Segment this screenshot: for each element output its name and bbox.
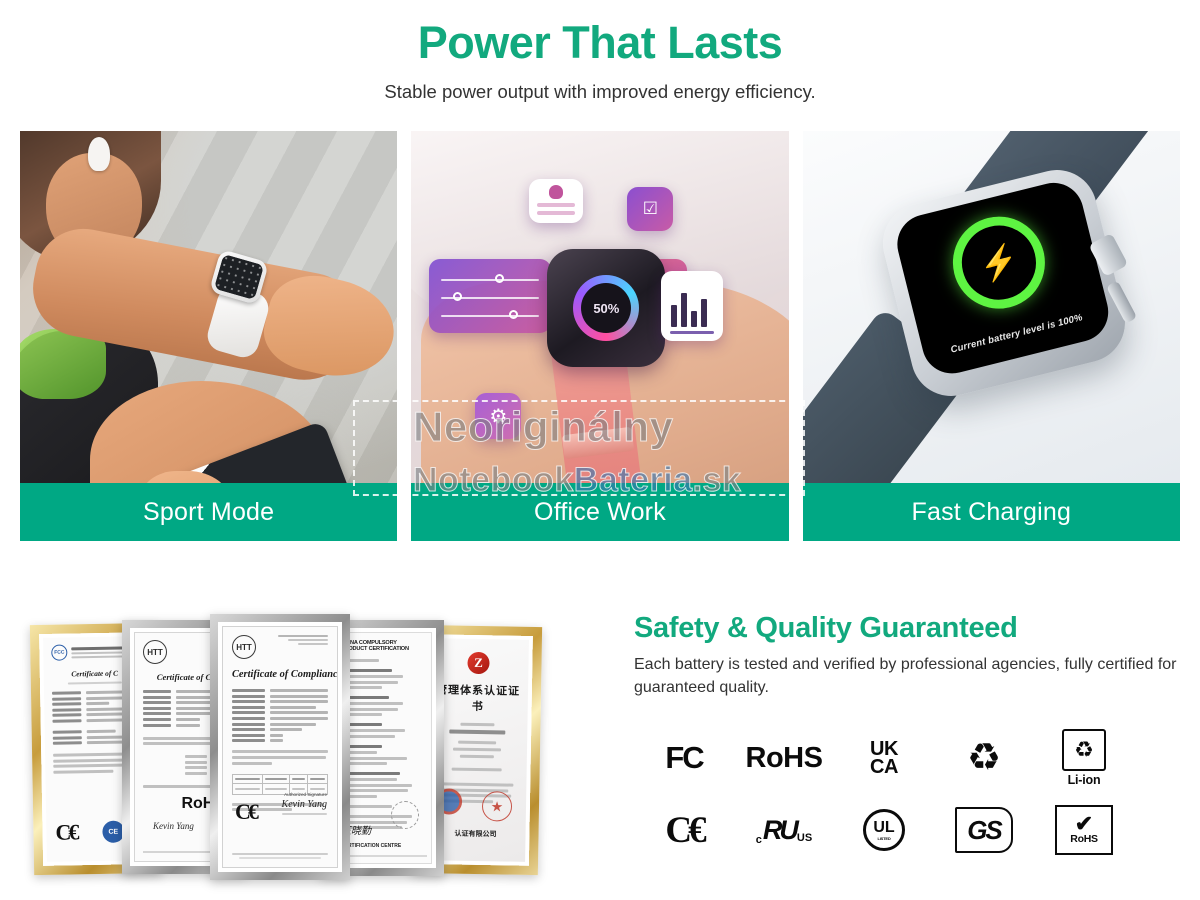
badge-row-1: FC RoHS UK CA ♻ ♻ Li-ion: [634, 722, 1134, 794]
cert-main-title: Certificate of Compliance: [232, 669, 328, 680]
page-header: Power That Lasts Stable power output wit…: [0, 0, 1200, 103]
cul-mark: RU: [763, 815, 796, 846]
cert-d-footer: CERTIFICATION CENTRE: [341, 843, 401, 849]
certificate-of-compliance-main[interactable]: HTT Certificate of Compliance: [210, 614, 350, 880]
settings-sliders-tile: [429, 259, 551, 333]
safety-quality-section: FCC Certificate of C: [0, 594, 1200, 900]
z-mark-icon: Z: [467, 652, 489, 674]
ukca-badge: UK CA: [834, 722, 934, 794]
watch-percent-label: 50%: [581, 283, 631, 333]
contact-card-tile: [529, 179, 583, 223]
smartwatch-body-office: 50%: [547, 249, 665, 367]
watch-screen-charging: ⚡ Current battery level is 100%: [891, 177, 1115, 380]
check-icon: ✔: [1075, 815, 1093, 833]
office-work-photo: ☑ ✉ 50% ⚙: [411, 131, 788, 541]
earbud-icon: [88, 137, 110, 171]
red-seal-stamp: ★: [482, 791, 513, 822]
li-ion-label: Li-ion: [1068, 773, 1101, 787]
settings-gear-tile: ⚙: [475, 393, 521, 439]
sport-mode-photo: [20, 131, 397, 541]
recycle-icon-small: ♻: [1062, 729, 1106, 771]
htt-logo-b: HTT: [143, 640, 167, 664]
ul-label: UL: [873, 820, 894, 836]
rohs-tick-badge: ✔ RoHS: [1034, 794, 1134, 866]
feature-card-office-work[interactable]: ☑ ✉ 50% ⚙ Office Work: [411, 131, 788, 541]
rohs-text-badge: RoHS: [734, 722, 834, 794]
certificate-gallery: FCC Certificate of C: [18, 602, 608, 892]
cert-e-title: 管理体系认证证书: [436, 681, 521, 714]
ukca-bottom: CA: [870, 756, 898, 778]
badge-row-2: C€ c RU US UL LISTED GS: [634, 794, 1134, 866]
cert-main-signature-label: Authorized Signature: [282, 792, 327, 797]
cert-d-title: CHINA COMPULSORY PRODUCT CERTIFICATION: [341, 640, 423, 652]
htt-logo-main: HTT: [232, 635, 256, 659]
c-ul-us-badge: c RU US: [734, 794, 834, 866]
caption-sport-mode: Sport Mode: [20, 483, 397, 541]
lightning-bolt-icon: ⚡: [975, 242, 1021, 283]
recycle-badge: ♻: [934, 722, 1034, 794]
safety-description: Each battery is tested and verified by p…: [634, 654, 1182, 699]
cul-suffix: US: [797, 832, 812, 844]
page-subtitle: Stable power output with improved energy…: [0, 81, 1200, 103]
product-detail-page: Power That Lasts Stable power output wit…: [0, 0, 1200, 900]
person-icon: [549, 185, 563, 199]
feature-card-sport-mode[interactable]: Sport Mode: [20, 131, 397, 541]
checklist-tile: ☑: [627, 187, 673, 231]
certification-badge-grid: FC RoHS UK CA ♻ ♻ Li-ion: [634, 722, 1134, 866]
cert-a-ce-mark: C€: [55, 819, 76, 845]
ul-sub: LISTED: [877, 836, 890, 841]
safety-title: Safety & Quality Guaranteed: [634, 612, 1182, 645]
page-title: Power That Lasts: [0, 18, 1200, 68]
battery-level-text: Current battery level is 100%: [923, 306, 1110, 363]
gs-badge: GS: [934, 794, 1034, 866]
fast-charging-photo: ⚡ Current battery level is 100%: [803, 131, 1180, 541]
ce-badge: C€: [634, 794, 734, 866]
watch-screen-grid: [214, 254, 264, 300]
cert-main-ce-mark: C€: [235, 799, 256, 825]
analytics-tile: [661, 271, 723, 341]
rohs-tick-label: RoHS: [1070, 833, 1097, 845]
caption-office-work: Office Work: [411, 483, 788, 541]
feature-card-list: Sport Mode: [20, 131, 1180, 541]
li-ion-badge: ♻ Li-ion: [1034, 722, 1134, 794]
cul-prefix: c: [756, 834, 762, 846]
feature-card-fast-charging[interactable]: ⚡ Current battery level is 100% Fast Cha…: [803, 131, 1180, 541]
fcc-badge: FC: [634, 722, 734, 794]
progress-ring: 50%: [573, 275, 639, 341]
caption-fast-charging: Fast Charging: [803, 483, 1180, 541]
safety-quality-text-block: Safety & Quality Guaranteed Each battery…: [634, 612, 1182, 699]
ul-listed-badge: UL LISTED: [834, 794, 934, 866]
